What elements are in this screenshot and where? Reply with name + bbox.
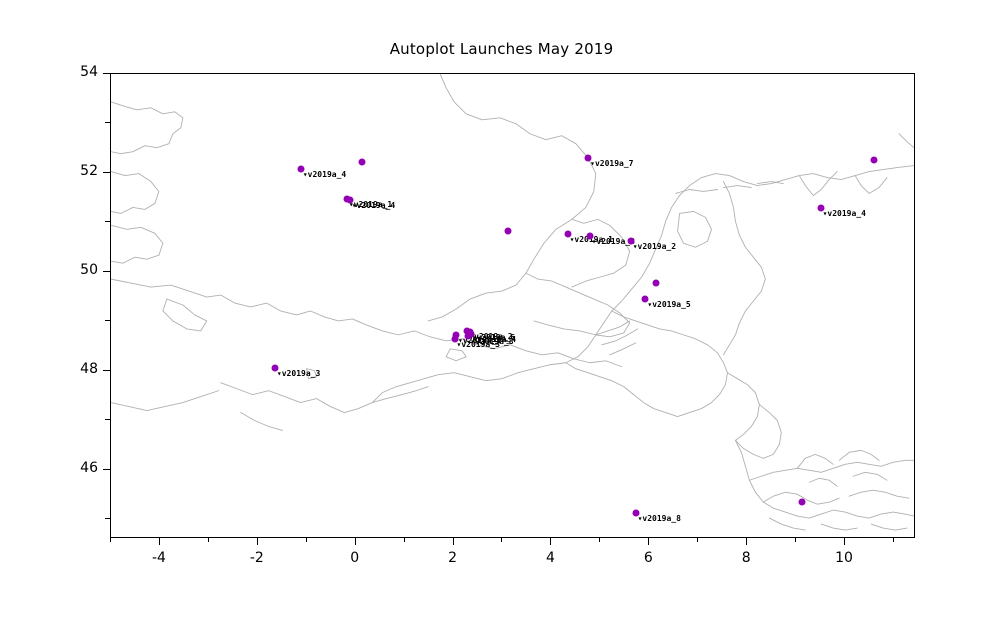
chart-title: Autoplot Launches May 2019 <box>0 40 1003 58</box>
x-tick-minor <box>501 538 502 542</box>
plot-area: ▾v2019a_4▾v2019a_1▾v2019a_4▾v2019a_7▾v20… <box>110 73 915 538</box>
y-tick-label: 48 <box>58 361 98 377</box>
x-tick-minor <box>599 538 600 542</box>
x-tick-label: 2 <box>433 550 473 566</box>
x-tick-major <box>550 538 551 545</box>
y-tick-label: 50 <box>58 262 98 278</box>
x-tick-major <box>355 538 356 545</box>
y-tick-major <box>103 73 110 74</box>
x-tick-label: 0 <box>335 550 375 566</box>
y-tick-minor <box>105 419 110 420</box>
x-tick-label: -2 <box>237 550 277 566</box>
data-point <box>358 159 365 166</box>
x-tick-minor <box>306 538 307 542</box>
x-tick-label: -4 <box>139 550 179 566</box>
x-tick-major <box>159 538 160 545</box>
x-tick-label: 10 <box>824 550 864 566</box>
data-point-label: ▾v2019a_3 <box>277 370 320 378</box>
data-point <box>505 228 512 235</box>
data-point-label: ▾v2019a_2 <box>633 243 676 251</box>
x-tick-minor <box>795 538 796 542</box>
y-tick-label: 46 <box>58 460 98 476</box>
y-tick-minor <box>105 320 110 321</box>
x-tick-major <box>453 538 454 545</box>
coastline-basemap <box>111 74 914 537</box>
data-point-label: ▾v2019a_5 <box>647 301 690 309</box>
x-tick-major <box>648 538 649 545</box>
x-tick-minor <box>893 538 894 542</box>
x-tick-major <box>844 538 845 545</box>
data-point-label: ▾v2019a_4 <box>352 202 395 210</box>
y-tick-major <box>103 172 110 173</box>
x-tick-minor <box>208 538 209 542</box>
y-tick-major <box>103 370 110 371</box>
y-tick-major <box>103 469 110 470</box>
y-tick-minor <box>105 122 110 123</box>
figure: Autoplot Launches May 2019 <box>0 0 1003 633</box>
data-point-label: ▾v2019a_7 <box>590 160 633 168</box>
y-tick-label: 52 <box>58 163 98 179</box>
data-point-label: ▾v2019a_8 <box>638 515 681 523</box>
y-tick-minor <box>105 518 110 519</box>
data-point-label: ▾v2019a_4 <box>303 171 346 179</box>
y-tick-minor <box>105 221 110 222</box>
data-point <box>652 279 659 286</box>
x-tick-minor <box>110 538 111 542</box>
y-tick-major <box>103 271 110 272</box>
y-tick-label: 54 <box>58 64 98 80</box>
x-tick-minor <box>697 538 698 542</box>
data-point-label: ▾v2019a_3 <box>457 341 500 349</box>
x-tick-major <box>746 538 747 545</box>
x-tick-label: 8 <box>726 550 766 566</box>
data-point <box>871 156 878 163</box>
x-tick-minor <box>404 538 405 542</box>
x-tick-label: 4 <box>530 550 570 566</box>
data-point-label: ▾v2019a_4 <box>823 210 866 218</box>
data-point <box>798 498 805 505</box>
x-tick-major <box>257 538 258 545</box>
x-tick-label: 6 <box>628 550 668 566</box>
